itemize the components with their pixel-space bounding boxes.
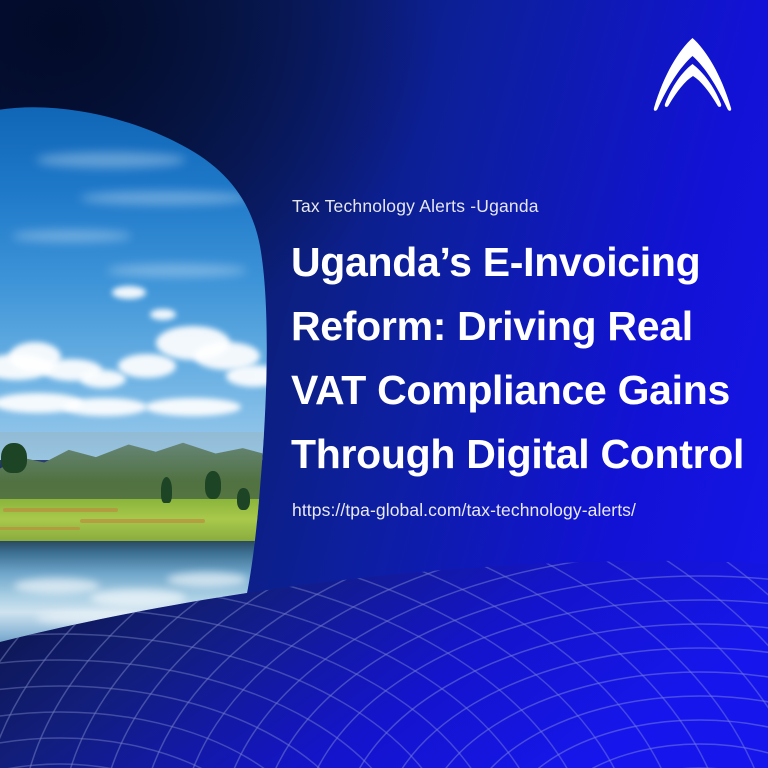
hero-photo [0, 96, 270, 656]
photo-content [0, 96, 270, 656]
social-share-card: Tax Technology Alerts -Uganda Uganda’s E… [0, 0, 768, 768]
source-url[interactable]: https://tpa-global.com/tax-technology-al… [292, 500, 753, 521]
eyebrow-label: Tax Technology Alerts -Uganda [292, 196, 753, 217]
tpa-arch-logo-icon [646, 34, 738, 118]
page-title: Uganda’s E-Invoicing Reform: Driving Rea… [291, 230, 753, 486]
text-column: Tax Technology Alerts -Uganda Uganda’s E… [291, 196, 753, 521]
